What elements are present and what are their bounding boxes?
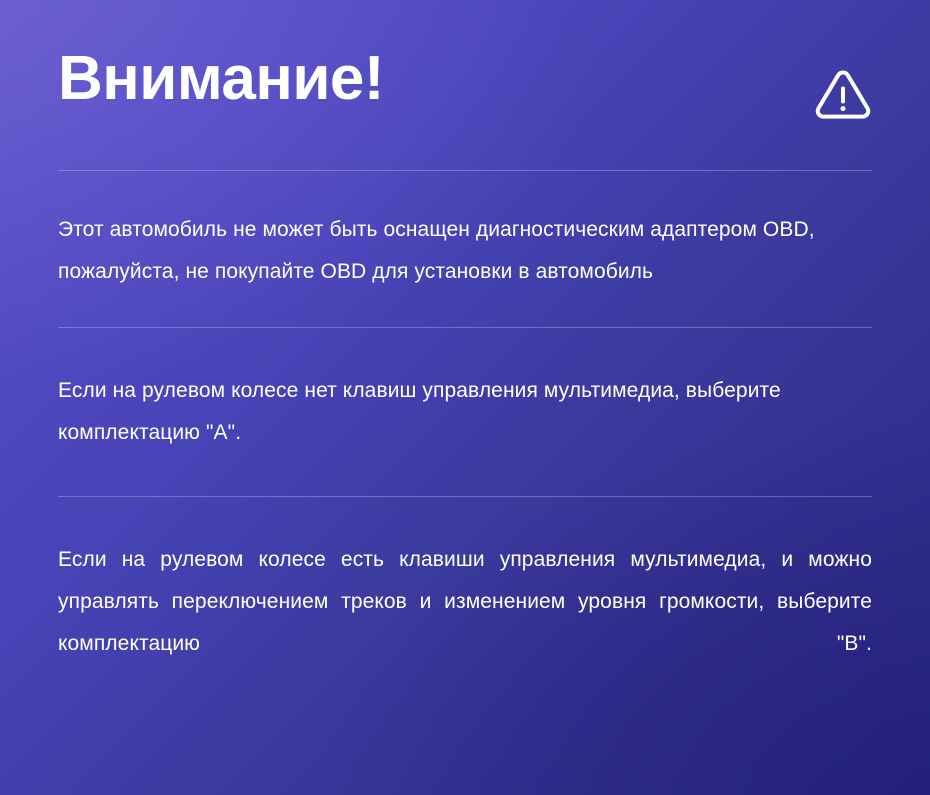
notice-block-trim-b: Если на рулевом колесе есть клавиши упра… [58,497,872,707]
notice-block-trim-a: Если на рулевом колесе нет клавиш управл… [58,328,872,496]
warning-notice-card: Внимание! Этот автомобиль не может быть … [0,0,930,795]
warning-triangle-icon [814,66,872,124]
notice-block-obd-warning: Этот автомобиль не может быть оснащен ди… [58,171,872,327]
card-content: Внимание! Этот автомобиль не может быть … [0,0,930,707]
notice-text: Если на рулевом колесе есть клавиши упра… [58,539,872,707]
notice-text: Этот автомобиль не может быть оснащен ди… [58,209,872,293]
card-header: Внимание! [58,0,872,170]
page-title: Внимание! [58,48,384,110]
notice-text: Если на рулевом колесе нет клавиш управл… [58,370,872,454]
